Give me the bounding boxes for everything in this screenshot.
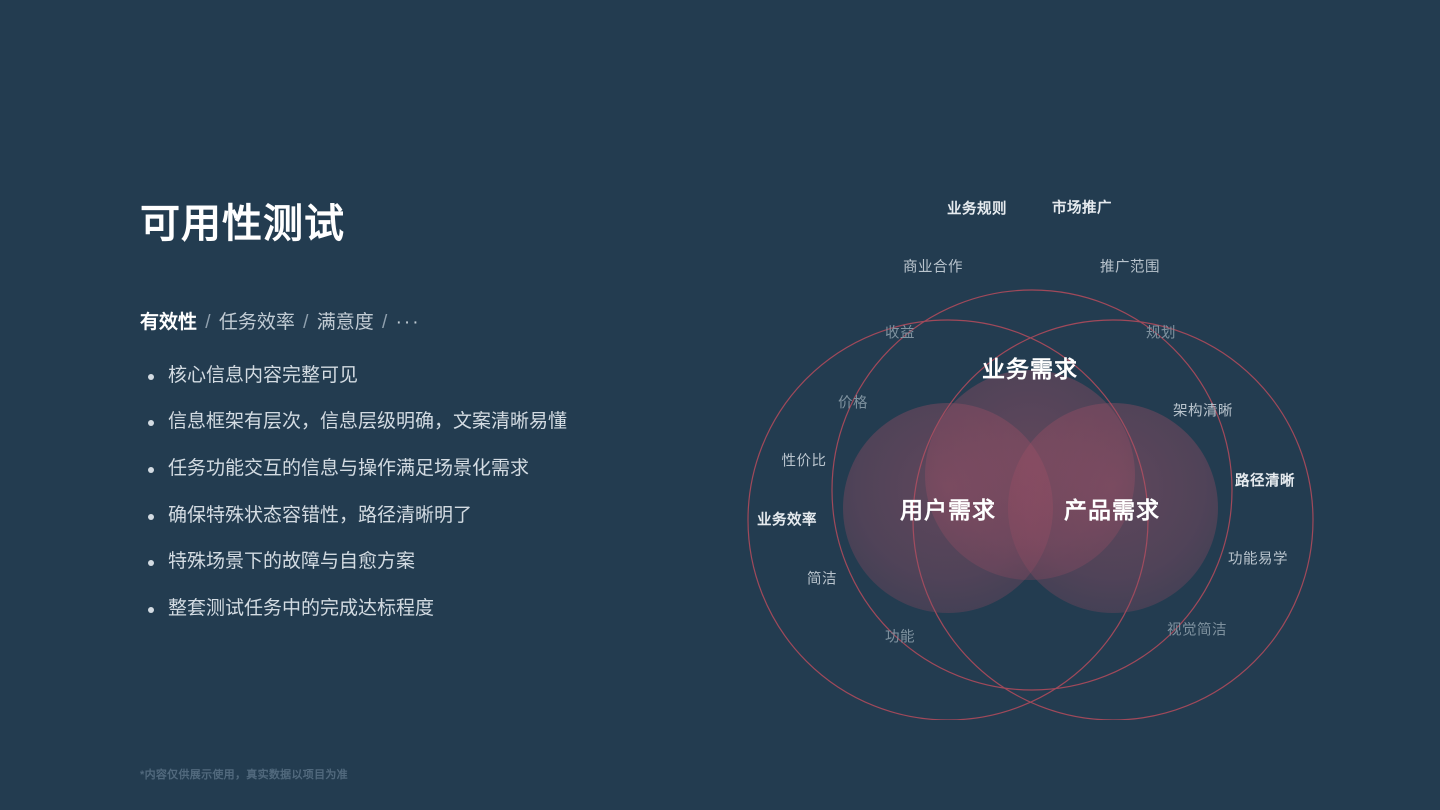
subtitle-separator-2: / [300, 312, 311, 333]
subtitle-part-3: 满意度 [317, 312, 374, 333]
venn-diagram: 业务需求用户需求产品需求业务规则市场推广商业合作推广范围收益规划价格架构清晰性价… [700, 120, 1400, 720]
venn-circle-product [1008, 403, 1218, 613]
bullet-item: 确保特殊状态容错性，路径清晰明了 [140, 503, 740, 529]
bullet-item: 任务功能交互的信息与操作满足场景化需求 [140, 456, 740, 482]
bullet-item: 整套测试任务中的完成达标程度 [140, 596, 740, 622]
subtitle-line: 有效性 / 任务效率 / 满意度 / ··· [140, 310, 740, 337]
subtitle-separator-3: / [379, 312, 390, 333]
footnote: *内容仅供展示使用，真实数据以项目为准 [140, 766, 348, 782]
left-content-pane: 可用性测试 有效性 / 任务效率 / 满意度 / ··· 核心信息内容完整可见信… [140, 200, 740, 642]
bullet-list: 核心信息内容完整可见信息框架有层次，信息层级明确，文案清晰易懂任务功能交互的信息… [140, 363, 740, 622]
subtitle-separator-1: / [202, 312, 213, 333]
slide-root: 可用性测试 有效性 / 任务效率 / 满意度 / ··· 核心信息内容完整可见信… [0, 0, 1440, 810]
subtitle-ellipsis: ··· [396, 312, 421, 333]
subtitle-strong: 有效性 [140, 312, 197, 333]
subtitle-part-2: 任务效率 [219, 312, 295, 333]
page-title: 可用性测试 [140, 200, 740, 248]
venn-svg [700, 120, 1400, 720]
bullet-item: 信息框架有层次，信息层级明确，文案清晰易懂 [140, 409, 740, 435]
bullet-item: 特殊场景下的故障与自愈方案 [140, 549, 740, 575]
bullet-item: 核心信息内容完整可见 [140, 363, 740, 389]
